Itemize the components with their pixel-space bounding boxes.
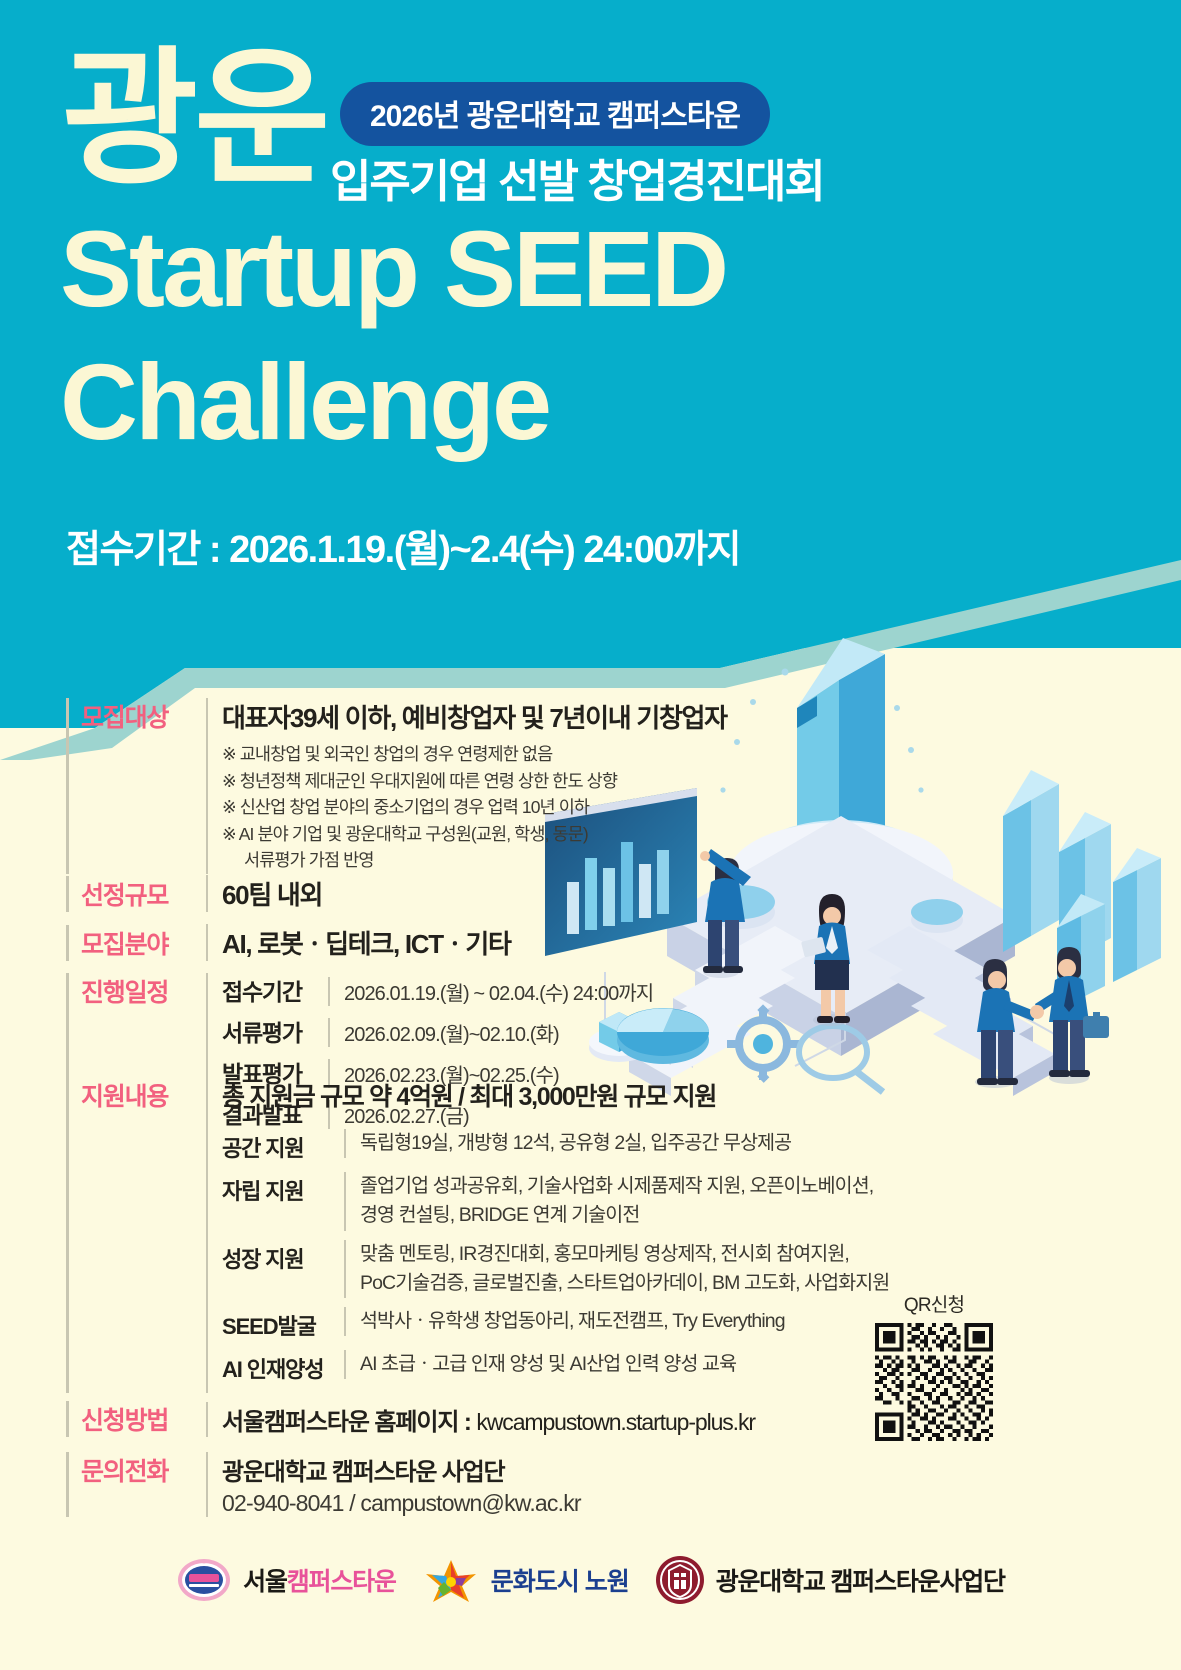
nowon-starburst-icon xyxy=(422,1556,480,1604)
target-note-1: ※ 청년정책 제대군인 우대지원에 따른 연령 상한 한도 상향 xyxy=(222,768,727,795)
support-key-0: 공간 지원 xyxy=(222,1129,344,1163)
contact-org: 광운대학교 캠퍼스타운 사업단 xyxy=(222,1452,581,1487)
title-en-line1: Startup SEED xyxy=(60,215,726,323)
support-row: AI 인재양성 AI 초급ㆍ고급 인재 양성 및 AI산업 인력 양성 교육 xyxy=(222,1350,889,1384)
footer-logos: 서울캠퍼스타운 문화도시 노원 xyxy=(0,1540,1181,1620)
support-key-1: 자립 지원 xyxy=(222,1172,344,1206)
target-note-3: ※ AI 분야 기업 및 광운대학교 구성원(교원, 학생, 동문) xyxy=(222,821,727,848)
apply-line: 서울캠퍼스타운 홈페이지 : kwcampustown.startup-plus… xyxy=(222,1402,755,1437)
scale-value: 60팀 내외 xyxy=(222,875,322,912)
support-row: SEED발굴 석박사ㆍ유학생 창업동아리, 재도전캠프, Try Everyth… xyxy=(222,1307,889,1341)
section-target: 모집대상 대표자39세 이하, 예비창업자 및 7년이내 기창업자 ※ 교내창업… xyxy=(66,698,727,874)
contact-detail[interactable]: 02-940-8041 / campustown@kw.ac.kr xyxy=(222,1490,581,1517)
section-fields-label: 모집분야 xyxy=(66,925,168,961)
schedule-value-1: 2026.02.09.(월)~02.10.(화) xyxy=(328,1018,559,1047)
section-support: 지원내용 총 지원금 규모 약 4억원 / 최대 3,000만원 규모 지원 공… xyxy=(66,1077,889,1393)
qr-block: QR신청 xyxy=(872,1290,996,1446)
section-target-label: 모집대상 xyxy=(66,698,168,874)
support-line-3-0: 석박사ㆍ유학생 창업동아리, 재도전캠프, Try Everything xyxy=(360,1307,785,1336)
support-key-2: 성장 지원 xyxy=(222,1240,344,1274)
target-note-0: ※ 교내창업 및 외국인 창업의 경우 연령제한 없음 xyxy=(222,741,727,768)
seoul-campustown-emblem-icon xyxy=(176,1556,232,1604)
support-key-3: SEED발굴 xyxy=(222,1307,344,1341)
footer-text-campustown: 캠퍼스타운 xyxy=(287,1568,396,1596)
support-line-4-0: AI 초급ㆍ고급 인재 양성 및 AI산업 인력 양성 교육 xyxy=(360,1350,736,1379)
brand-title: 광운 xyxy=(62,52,326,188)
support-line-1-1: 경영 컨설팅, BRIDGE 연계 기술이전 xyxy=(360,1201,873,1230)
footer-text-seoul: 서울 xyxy=(243,1568,287,1596)
support-row: 자립 지원 졸업기업 성과공유회, 기술사업화 시제품제작 지원, 오픈이노베이… xyxy=(222,1172,889,1231)
target-headline: 대표자39세 이하, 예비창업자 및 7년이내 기창업자 xyxy=(222,698,727,735)
support-headline: 총 지원금 규모 약 4억원 / 최대 3,000만원 규모 지원 xyxy=(222,1077,889,1113)
support-row: 공간 지원 독립형19실, 개방형 12석, 공유형 2실, 입주공간 무상제공 xyxy=(222,1129,889,1163)
apply-url[interactable]: kwcampustown.startup-plus.kr xyxy=(476,1409,755,1435)
section-contact: 문의전화 광운대학교 캠퍼스타운 사업단 02-940-8041 / campu… xyxy=(66,1452,581,1517)
section-fields: 모집분야 AI, 로봇ㆍ딥테크, ICTㆍ기타 xyxy=(66,924,511,961)
section-support-label: 지원내용 xyxy=(66,1077,168,1393)
title-en-line2: Challenge xyxy=(60,348,549,456)
target-note-2: ※ 신산업 창업 분야의 중소기업의 경우 업력 10년 이하 xyxy=(222,794,727,821)
footer-logo-seoul-campustown-text: 서울캠퍼스타운 xyxy=(243,1562,396,1598)
support-line-2-1: PoC기술검증, 글로벌진출, 스타트업아카데이, BM 고도화, 사업화지원 xyxy=(360,1269,889,1298)
support-line-0-0: 독립형19실, 개방형 12석, 공유형 2실, 입주공간 무상제공 xyxy=(360,1129,791,1158)
schedule-row: 접수기간 2026.01.19.(월) ~ 02.04.(수) 24:00까지 xyxy=(222,973,653,1007)
target-note-4: 서류평가 가점 반영 xyxy=(222,847,727,874)
support-row: 성장 지원 맞춤 멘토링, IR경진대회, 홍모마케팅 영상제작, 전시회 참여… xyxy=(222,1240,889,1299)
footer-logo-kwangwoon: 광운대학교 캠퍼스타운사업단 xyxy=(655,1555,1005,1605)
qr-caption: QR신청 xyxy=(872,1290,996,1317)
section-apply: 신청방법 서울캠퍼스타운 홈페이지 : kwcampustown.startup… xyxy=(66,1401,755,1437)
section-contact-label: 문의전화 xyxy=(66,1452,168,1517)
section-scale-label: 선정규모 xyxy=(66,876,168,912)
section-scale: 선정규모 60팀 내외 xyxy=(66,875,322,912)
schedule-key-0: 접수기간 xyxy=(222,973,328,1007)
deadline-banner: 접수기간 : 2026.1.19.(월)~2.4(수) 24:00까지 xyxy=(66,518,740,573)
year-pill: 2026년 광운대학교 캠퍼스타운 xyxy=(340,82,770,146)
footer-logo-seoul-campustown: 서울캠퍼스타운 xyxy=(176,1556,396,1604)
support-line-1-0: 졸업기업 성과공유회, 기술사업화 시제품제작 지원, 오픈이노베이션, xyxy=(360,1172,873,1201)
poster-root: 광운 2026년 광운대학교 캠퍼스타운 입주기업 선발 창업경진대회 Star… xyxy=(0,0,1181,1670)
qr-code-icon[interactable] xyxy=(875,1323,993,1441)
footer-logo-kwangwoon-text: 광운대학교 캠퍼스타운사업단 xyxy=(716,1562,1005,1598)
footer-logo-nowon-text: 문화도시 노원 xyxy=(491,1562,629,1598)
support-key-4: AI 인재양성 xyxy=(222,1350,344,1384)
subtitle-korean: 입주기업 선발 창업경진대회 xyxy=(330,145,824,210)
support-line-2-0: 맞춤 멘토링, IR경진대회, 홍모마케팅 영상제작, 전시회 참여지원, xyxy=(360,1240,889,1269)
footer-logo-nowon: 문화도시 노원 xyxy=(422,1556,629,1604)
apply-prefix: 서울캠퍼스타운 홈페이지 : xyxy=(222,1409,476,1436)
schedule-key-1: 서류평가 xyxy=(222,1014,328,1048)
schedule-value-0: 2026.01.19.(월) ~ 02.04.(수) 24:00까지 xyxy=(328,977,653,1006)
fields-value: AI, 로봇ㆍ딥테크, ICTㆍ기타 xyxy=(222,924,511,961)
section-apply-label: 신청방법 xyxy=(66,1401,168,1437)
kwangwoon-university-seal-icon xyxy=(655,1555,705,1605)
schedule-row: 서류평가 2026.02.09.(월)~02.10.(화) xyxy=(222,1014,653,1048)
